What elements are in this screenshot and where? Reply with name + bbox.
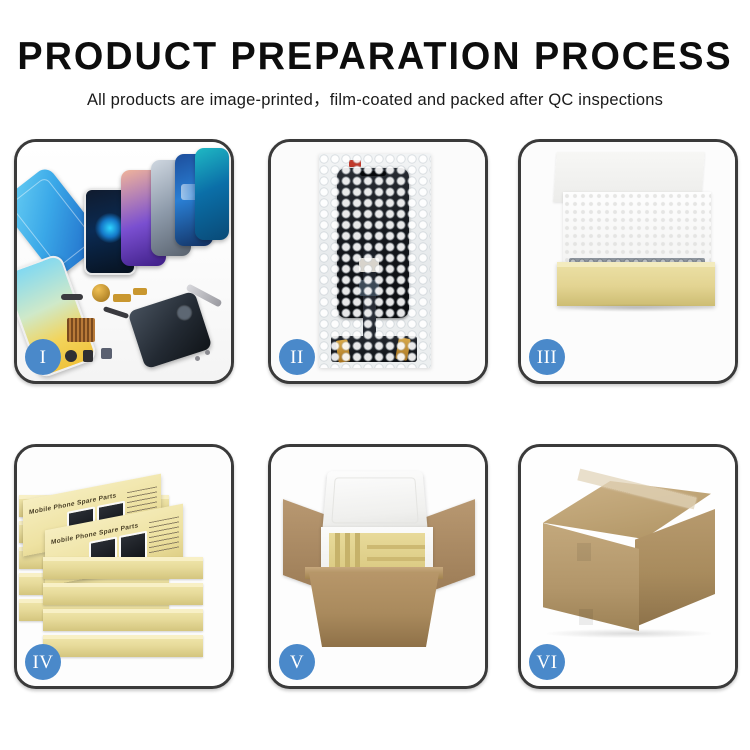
speaker-coil-icon xyxy=(92,284,110,302)
stack-box-front-3 xyxy=(43,609,203,631)
teal-phone-icon xyxy=(195,148,229,240)
yellow-box-tray xyxy=(557,262,715,306)
process-panel-grid: I II xyxy=(14,139,736,685)
process-panel-2: II xyxy=(268,139,488,384)
page-title: PRODUCT PREPARATION PROCESS xyxy=(11,34,739,80)
process-panel-4: Mobile Phone Spare Parts Mobile Phone Sp… xyxy=(14,444,234,689)
flex-cable-icon xyxy=(61,294,83,300)
box-row-line-1 xyxy=(367,545,425,549)
bubble-texture-overlay xyxy=(319,154,431,368)
chip-grid-icon xyxy=(67,318,95,342)
small-part-d-icon xyxy=(101,348,112,359)
stack-box-front-4 xyxy=(43,635,203,657)
carton-flap-mark-bottom xyxy=(579,609,593,625)
ribbon-cable-icon xyxy=(103,306,129,319)
process-panel-6: VI xyxy=(518,444,738,689)
bubble-wrap-bag xyxy=(319,154,431,368)
box-edge xyxy=(43,609,203,613)
page-subtitle: All products are image-printed，film-coat… xyxy=(0,89,750,111)
box-spec-lines-2 xyxy=(149,516,179,556)
tray-rim xyxy=(557,262,715,267)
product-preparation-infographic: PRODUCT PREPARATION PROCESS All products… xyxy=(0,0,750,750)
panel-badge-3: III xyxy=(529,339,565,375)
carton-shadow xyxy=(547,629,711,638)
screw-b-icon xyxy=(205,350,210,355)
small-part-c-icon xyxy=(83,350,93,362)
panel-badge-2: II xyxy=(279,339,315,375)
carton-body xyxy=(309,573,439,647)
screw-a-icon xyxy=(195,356,200,361)
header: PRODUCT PREPARATION PROCESS All products… xyxy=(0,0,750,111)
stack-box-front-2 xyxy=(43,583,203,605)
stack-box-front-1 xyxy=(43,557,203,579)
gold-connector-icon xyxy=(113,294,131,302)
panel-badge-5: V xyxy=(279,644,315,680)
carton-flap-mark-top xyxy=(577,543,591,561)
process-panel-5: V xyxy=(268,444,488,689)
box-edge xyxy=(43,583,203,587)
process-panel-3: III xyxy=(518,139,738,384)
tray-shadow xyxy=(561,304,713,312)
box-edge xyxy=(43,635,203,639)
gold-connector-small-icon xyxy=(133,288,147,295)
box-stack: Mobile Phone Spare Parts Mobile Phone Sp… xyxy=(17,465,231,665)
process-panel-1: I xyxy=(14,139,234,384)
panel-badge-4: IV xyxy=(25,644,61,680)
small-part-b-icon xyxy=(65,350,77,362)
panel-badge-1: I xyxy=(25,339,61,375)
box-row-line-2 xyxy=(367,557,425,561)
box-edge xyxy=(43,557,203,561)
styrofoam-lid xyxy=(322,471,428,532)
panel-badge-6: VI xyxy=(529,644,565,680)
